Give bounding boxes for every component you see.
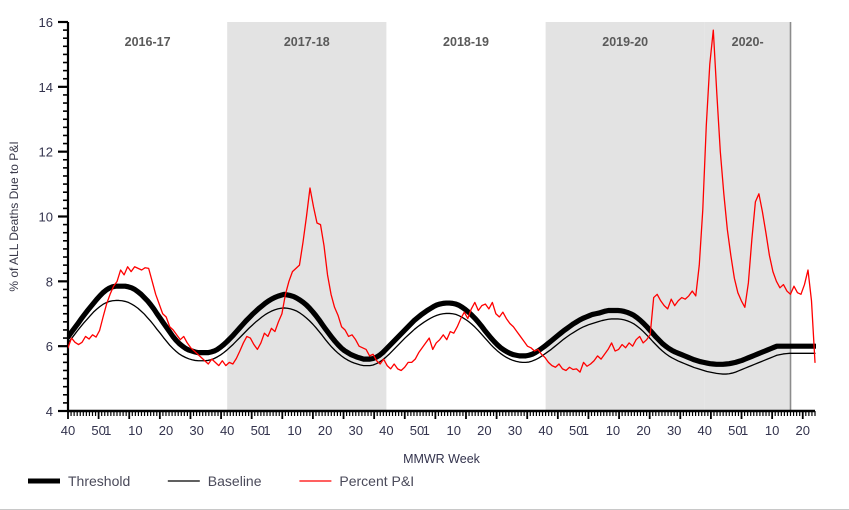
x-tick-label: 1 <box>582 423 589 438</box>
x-tick-label: 20 <box>477 423 491 438</box>
pneumonia-influenza-mortality-chart: 4681012141640501102030405011020304050110… <box>0 0 849 465</box>
x-tick-label: 20 <box>318 423 332 438</box>
legend-label: Percent P&I <box>339 473 414 489</box>
legend-item-percent-p-i[interactable]: Percent P&I <box>299 473 414 489</box>
x-tick-label: 30 <box>349 423 363 438</box>
x-tick-label: 10 <box>606 423 620 438</box>
x-tick-label: 40 <box>698 423 712 438</box>
x-tick-label: 10 <box>447 423 461 438</box>
x-tick-label: 20 <box>796 423 810 438</box>
x-axis-title: MMWR Week <box>403 452 481 465</box>
y-axis-title: % of ALL Deaths Due to P&I <box>7 141 21 291</box>
x-tick-label: 1 <box>741 423 748 438</box>
y-tick-label: 14 <box>39 80 53 95</box>
x-tick-label: 1 <box>104 423 111 438</box>
season-label: 2020- <box>732 35 764 49</box>
x-tick-label: 30 <box>667 423 681 438</box>
y-tick-label: 6 <box>46 339 53 354</box>
y-tick-label: 8 <box>46 274 53 289</box>
legend-item-baseline[interactable]: Baseline <box>168 473 262 489</box>
chart-legend: ThresholdBaselinePercent P&I <box>0 465 849 510</box>
x-tick-label: 40 <box>220 423 234 438</box>
x-tick-label: 1 <box>423 423 430 438</box>
legend-label: Baseline <box>208 473 262 489</box>
x-tick-label: 1 <box>263 423 270 438</box>
legend-label: Threshold <box>68 473 130 489</box>
season-label: 2018-19 <box>443 35 489 49</box>
x-tick-label: 20 <box>636 423 650 438</box>
y-tick-label: 10 <box>39 210 53 225</box>
chart-root: 4681012141640501102030405011020304050110… <box>0 0 849 510</box>
x-tick-label: 30 <box>508 423 522 438</box>
season-label: 2016-17 <box>125 35 171 49</box>
x-tick-label: 40 <box>61 423 75 438</box>
x-tick-label: 30 <box>189 423 203 438</box>
x-tick-label: 10 <box>287 423 301 438</box>
y-tick-label: 12 <box>39 145 53 160</box>
x-tick-label: 40 <box>379 423 393 438</box>
season-label: 2017-18 <box>284 35 330 49</box>
x-tick-label: 10 <box>128 423 142 438</box>
season-label: 2019-20 <box>602 35 648 49</box>
y-tick-label: 4 <box>46 404 53 419</box>
legend-item-threshold[interactable]: Threshold <box>28 473 130 489</box>
season-band-shaded <box>705 22 791 411</box>
x-tick-label: 10 <box>765 423 779 438</box>
x-tick-label: 40 <box>538 423 552 438</box>
y-tick-label: 16 <box>39 15 53 30</box>
x-tick-label: 20 <box>159 423 173 438</box>
